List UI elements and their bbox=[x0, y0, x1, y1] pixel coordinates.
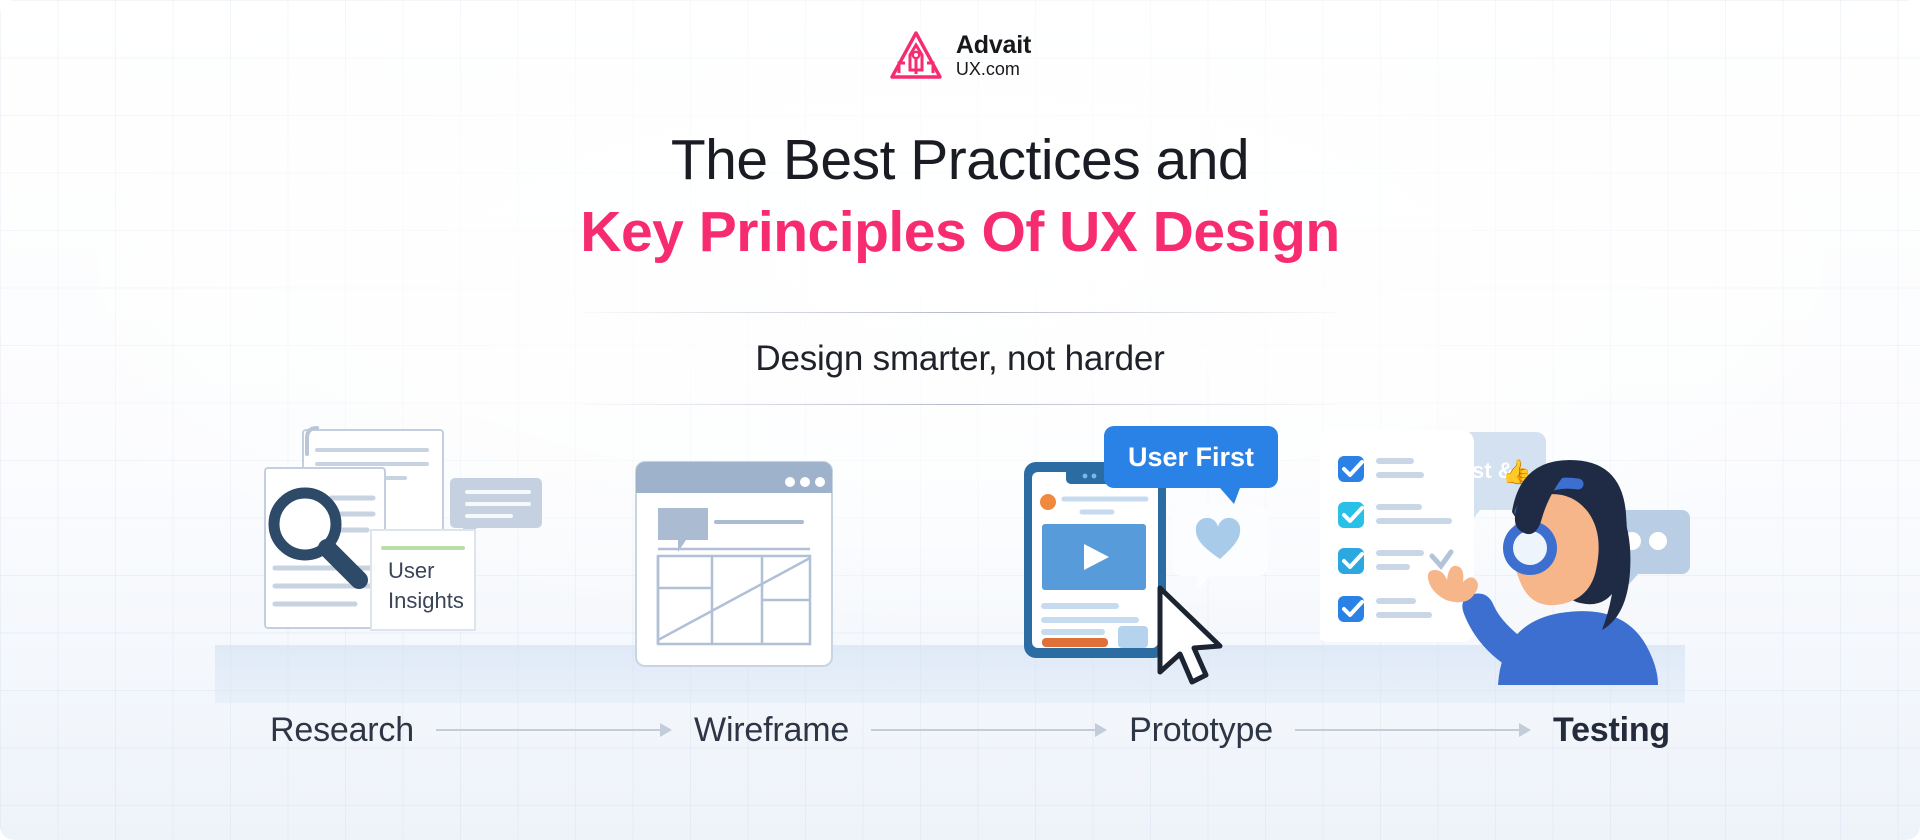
testing-illustration: Test & 👍 bbox=[1320, 420, 1700, 685]
brand-name-secondary: UX.com bbox=[956, 60, 1031, 78]
wireframe-illustration bbox=[630, 450, 840, 680]
page-title: The Best Practices and Key Principles Of… bbox=[0, 128, 1920, 265]
sticky-note-line-1: User bbox=[388, 558, 434, 583]
step-label-testing: Testing bbox=[1553, 711, 1670, 750]
mouse-cursor-icon bbox=[1160, 588, 1220, 682]
headline-line-1: The Best Practices and bbox=[0, 128, 1920, 193]
step-label-prototype: Prototype bbox=[1129, 711, 1273, 750]
brand-name-primary: Advait bbox=[956, 33, 1031, 58]
step-label-research: Research bbox=[270, 711, 414, 750]
step-connector-2-icon bbox=[871, 723, 1107, 737]
banner-root: Advait UX.com The Best Practices and Key… bbox=[0, 0, 1920, 840]
sticky-note-line-2: Insights bbox=[388, 588, 464, 613]
subtitle-block: Design smarter, not harder bbox=[584, 312, 1336, 405]
process-step-labels: Research Wireframe Prototype Testing bbox=[270, 700, 1670, 760]
subtitle-text: Design smarter, not harder bbox=[584, 313, 1336, 404]
triangle-pen-logo-icon bbox=[889, 30, 943, 80]
brand-logo[interactable]: Advait UX.com bbox=[0, 30, 1920, 80]
research-illustration: User Insights bbox=[255, 420, 545, 680]
divider-bottom bbox=[584, 404, 1336, 405]
step-label-wireframe: Wireframe bbox=[694, 711, 849, 750]
prototype-illustration: User First bbox=[1010, 420, 1290, 685]
brand-name: Advait UX.com bbox=[956, 33, 1031, 78]
heart-reaction-bubble bbox=[1172, 506, 1268, 592]
step-connector-3-icon bbox=[1295, 723, 1531, 737]
browser-dots-icon bbox=[785, 477, 825, 487]
user-first-bubble-label: User First bbox=[1128, 442, 1254, 472]
headline-line-2: Key Principles Of UX Design bbox=[0, 200, 1920, 265]
step-connector-1-icon bbox=[436, 723, 672, 737]
process-illustration: User Insights bbox=[0, 420, 1920, 720]
